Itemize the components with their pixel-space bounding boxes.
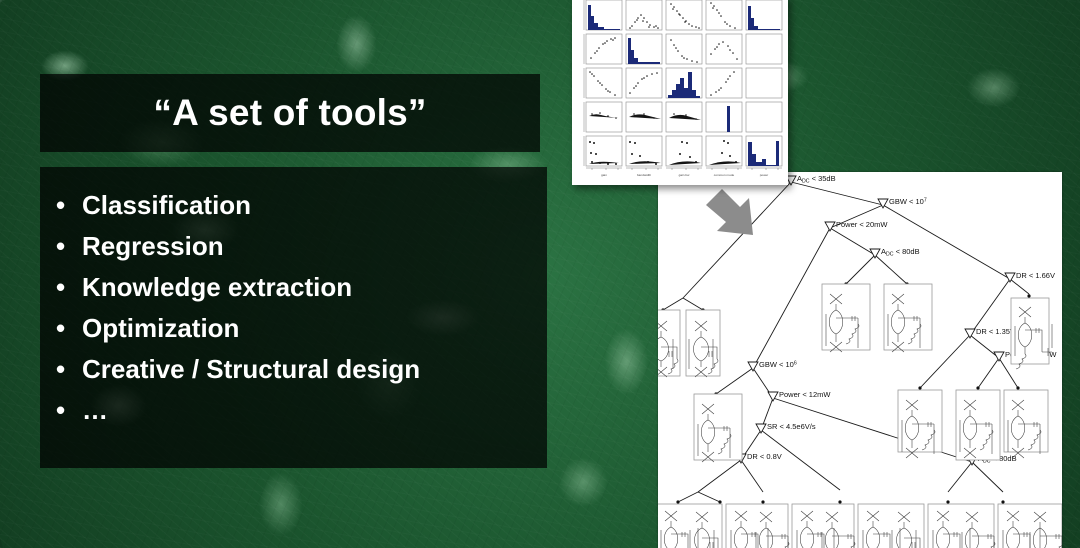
leaf-thumbnail	[956, 390, 1000, 460]
bullet-icon: •	[56, 267, 82, 308]
scatter-matrix-grid: gain bandwidth gain bw common mode power	[584, 0, 782, 177]
leaf-thumbnail	[898, 390, 942, 458]
bullet-icon: •	[56, 349, 82, 390]
list-item-label: Knowledge extraction	[82, 267, 352, 308]
list-item: • Knowledge extraction	[40, 267, 547, 308]
bullet-icon: •	[56, 185, 82, 226]
title-panel: “A set of tools”	[40, 74, 540, 152]
svg-text:bandwidth: bandwidth	[637, 173, 651, 177]
svg-text:Power < 20mW: Power < 20mW	[836, 220, 888, 229]
list-item: • …	[40, 390, 547, 431]
slide-canvas: “A set of tools” • Classification • Regr…	[0, 0, 1080, 548]
svg-text:Power < 12mW: Power < 12mW	[779, 390, 831, 399]
list-item: • Creative / Structural design	[40, 349, 547, 390]
decision-tree-figure: ADC < 35dB GBW < 107 Power < 20mW ADC < …	[658, 172, 1062, 548]
svg-text:DR < 1.35V: DR < 1.35V	[976, 327, 1015, 336]
list-item: • Regression	[40, 226, 547, 267]
leaf-thumbnail	[1004, 390, 1048, 458]
svg-text:SR < 4.5e6V/s: SR < 4.5e6V/s	[767, 422, 816, 431]
leaf-thumbnail	[884, 284, 932, 352]
leaf-thumbnail	[658, 310, 680, 377]
leaf-thumbnail	[998, 504, 1062, 548]
svg-text:GBW < 107: GBW < 107	[889, 197, 927, 206]
leaf-thumbnail	[658, 504, 722, 548]
svg-text:gain bw: gain bw	[679, 173, 690, 177]
scatter-matrix-figure: gain bandwidth gain bw common mode power	[572, 0, 788, 185]
svg-text:DR < 1.66V: DR < 1.66V	[1016, 271, 1055, 280]
bullet-icon: •	[56, 308, 82, 349]
page-title: “A set of tools”	[153, 92, 426, 134]
svg-text:GBW < 106: GBW < 106	[759, 360, 797, 369]
leaf-thumbnail	[792, 504, 855, 548]
leaf-thumbnail	[726, 504, 789, 548]
svg-text:common mode: common mode	[714, 173, 735, 177]
leaf-thumbnail	[822, 284, 870, 352]
list-item-label: Classification	[82, 185, 251, 226]
list-item-label: Regression	[82, 226, 224, 267]
svg-text:power: power	[760, 173, 768, 177]
leaf-thumbnail	[928, 504, 995, 548]
bullet-icon: •	[56, 226, 82, 267]
list-item-label: Creative / Structural design	[82, 349, 420, 390]
list-item: • Classification	[40, 185, 547, 226]
leaf-thumbnail	[1011, 298, 1052, 369]
list-item: • Optimization	[40, 308, 547, 349]
list-item-label: Optimization	[82, 308, 239, 349]
leaf-thumbnail	[858, 504, 924, 548]
leaf-thumbnail	[694, 394, 742, 462]
tools-list: • Classification • Regression • Knowledg…	[40, 185, 547, 431]
bullet-icon: •	[56, 390, 82, 431]
leaf-thumbnail	[686, 310, 720, 377]
svg-text:DR < 0.8V: DR < 0.8V	[747, 452, 782, 461]
svg-text:gain: gain	[601, 173, 607, 177]
list-item-label: …	[82, 390, 108, 431]
bullet-panel: • Classification • Regression • Knowledg…	[40, 167, 547, 468]
